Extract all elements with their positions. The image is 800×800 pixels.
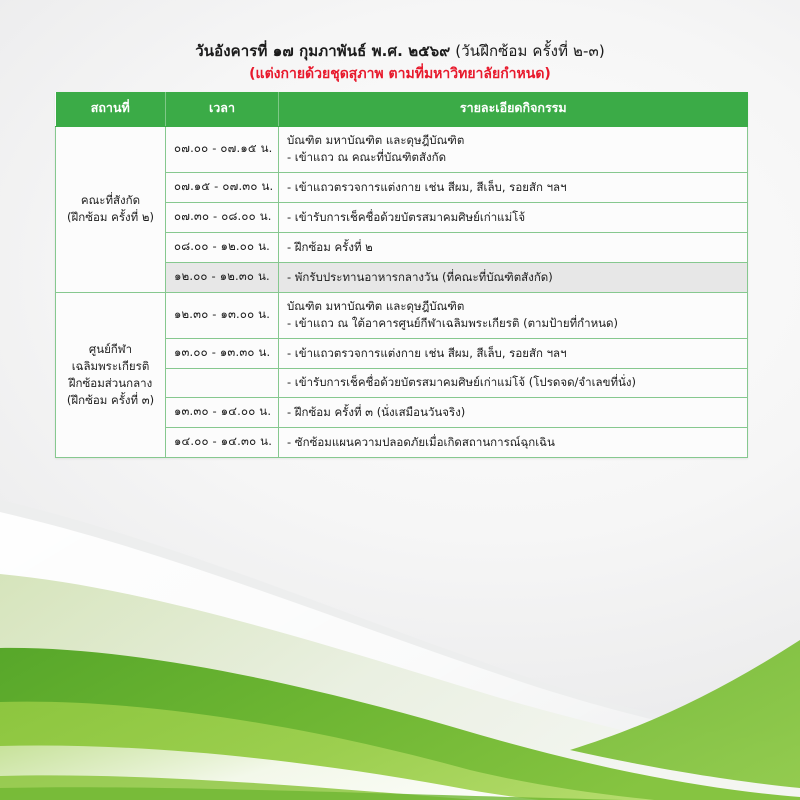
detail-line: - เข้าแถวตรวจการแต่งกาย เช่น สีผม, สีเล็… [287, 345, 739, 362]
detail-line: - พักรับประทานอาหารกลางวัน (ที่คณะที่บัณ… [287, 269, 739, 286]
cell-time: ๐๗.๐๐ - ๐๗.๑๕ น. [166, 127, 279, 173]
cell-place: คณะที่สังกัด(ฝึกซ้อม ครั้งที่ ๒) [56, 127, 166, 293]
place-line: ฝึกซ้อมส่วนกลาง [64, 375, 157, 392]
place-line: (ฝึกซ้อม ครั้งที่ ๒) [64, 209, 157, 226]
page-title: วันอังคารที่ ๑๗ กุมภาพันธ์ พ.ศ. ๒๕๖๙ (วั… [0, 40, 800, 62]
page-canvas: วันอังคารที่ ๑๗ กุมภาพันธ์ พ.ศ. ๒๕๖๙ (วั… [0, 0, 800, 800]
column-header-detail: รายละเอียดกิจกรรม [279, 92, 748, 127]
page-subtitle: (แต่งกายด้วยชุดสุภาพ ตามที่มหาวิทยาลัยกำ… [0, 63, 800, 85]
cell-time: ๐๘.๐๐ - ๑๒.๐๐ น. [166, 233, 279, 263]
column-header-place: สถานที่ [56, 92, 166, 127]
detail-line: - เข้าแถวตรวจการแต่งกาย เช่น สีผม, สีเล็… [287, 179, 739, 196]
cell-time: ๑๓.๐๐ - ๑๓.๓๐ น. [166, 339, 279, 369]
cell-time: ๐๗.๓๐ - ๐๘.๐๐ น. [166, 203, 279, 233]
detail-line: - ฝึกซ้อม ครั้งที่ ๒ [287, 239, 739, 256]
cell-detail: - ฝึกซ้อม ครั้งที่ ๒ [279, 233, 748, 263]
table-header: สถานที่ เวลา รายละเอียดกิจกรรม [56, 92, 748, 127]
detail-line: - เข้ารับการเช็คชื่อด้วยบัตรสมาคมศิษย์เก… [287, 209, 739, 226]
cell-detail: บัณฑิต มหาบัณฑิต และดุษฎีบัณฑิต- เข้าแถว… [279, 293, 748, 339]
place-line: ศูนย์กีฬาเฉลิมพระเกียรติ [64, 341, 157, 375]
table-body: คณะที่สังกัด(ฝึกซ้อม ครั้งที่ ๒)๐๗.๐๐ - … [56, 127, 748, 458]
cell-detail: - พักรับประทานอาหารกลางวัน (ที่คณะที่บัณ… [279, 263, 748, 293]
cell-detail: - เข้ารับการเช็คชื่อด้วยบัตรสมาคมศิษย์เก… [279, 369, 748, 398]
cell-detail: - ซักซ้อมแผนความปลอดภัยเมื่อเกิดสถานการณ… [279, 428, 748, 458]
cell-time: ๑๒.๓๐ - ๑๓.๐๐ น. [166, 293, 279, 339]
decorative-wave-graphic [0, 470, 800, 800]
table-row: คณะที่สังกัด(ฝึกซ้อม ครั้งที่ ๒)๐๗.๐๐ - … [56, 127, 748, 173]
cell-detail: - เข้าแถวตรวจการแต่งกาย เช่น สีผม, สีเล็… [279, 339, 748, 369]
detail-line: - เข้าแถว ณ ใต้อาคารศูนย์กีฬาเฉลิมพระเกี… [287, 315, 739, 332]
column-header-time: เวลา [166, 92, 279, 127]
cell-time: ๐๗.๑๕ - ๐๗.๓๐ น. [166, 173, 279, 203]
table-header-row: สถานที่ เวลา รายละเอียดกิจกรรม [56, 92, 748, 127]
table-row: ศูนย์กีฬาเฉลิมพระเกียรติฝึกซ้อมส่วนกลาง(… [56, 293, 748, 339]
cell-time: ๑๒.๐๐ - ๑๒.๓๐ น. [166, 263, 279, 293]
detail-line: บัณฑิต มหาบัณฑิต และดุษฎีบัณฑิต [287, 132, 739, 149]
place-line: (ฝึกซ้อม ครั้งที่ ๓) [64, 392, 157, 409]
detail-line: - ซักซ้อมแผนความปลอดภัยเมื่อเกิดสถานการณ… [287, 434, 739, 451]
cell-time [166, 369, 279, 398]
cell-detail: - เข้ารับการเช็คชื่อด้วยบัตรสมาคมศิษย์เก… [279, 203, 748, 233]
detail-line: บัณฑิต มหาบัณฑิต และดุษฎีบัณฑิต [287, 298, 739, 315]
cell-place: ศูนย์กีฬาเฉลิมพระเกียรติฝึกซ้อมส่วนกลาง(… [56, 293, 166, 458]
schedule-table-container: สถานที่ เวลา รายละเอียดกิจกรรม คณะที่สัง… [55, 92, 747, 458]
cell-detail: - ฝึกซ้อม ครั้งที่ ๓ (นั่งเสมือนวันจริง) [279, 398, 748, 428]
document-heading: วันอังคารที่ ๑๗ กุมภาพันธ์ พ.ศ. ๒๕๖๙ (วั… [0, 40, 800, 85]
page-title-note: (วันฝึกซ้อม ครั้งที่ ๒-๓) [450, 42, 604, 60]
place-line: คณะที่สังกัด [64, 192, 157, 209]
detail-line: - เข้าแถว ณ คณะที่บัณฑิตสังกัด [287, 149, 739, 166]
page-title-date: วันอังคารที่ ๑๗ กุมภาพันธ์ พ.ศ. ๒๕๖๙ [195, 42, 450, 60]
detail-line: - เข้ารับการเช็คชื่อด้วยบัตรสมาคมศิษย์เก… [287, 374, 739, 391]
detail-line: - ฝึกซ้อม ครั้งที่ ๓ (นั่งเสมือนวันจริง) [287, 404, 739, 421]
cell-time: ๑๓.๓๐ - ๑๔.๐๐ น. [166, 398, 279, 428]
schedule-table: สถานที่ เวลา รายละเอียดกิจกรรม คณะที่สัง… [55, 92, 748, 458]
cell-time: ๑๔.๐๐ - ๑๔.๓๐ น. [166, 428, 279, 458]
cell-detail: - เข้าแถวตรวจการแต่งกาย เช่น สีผม, สีเล็… [279, 173, 748, 203]
cell-detail: บัณฑิต มหาบัณฑิต และดุษฎีบัณฑิต- เข้าแถว… [279, 127, 748, 173]
